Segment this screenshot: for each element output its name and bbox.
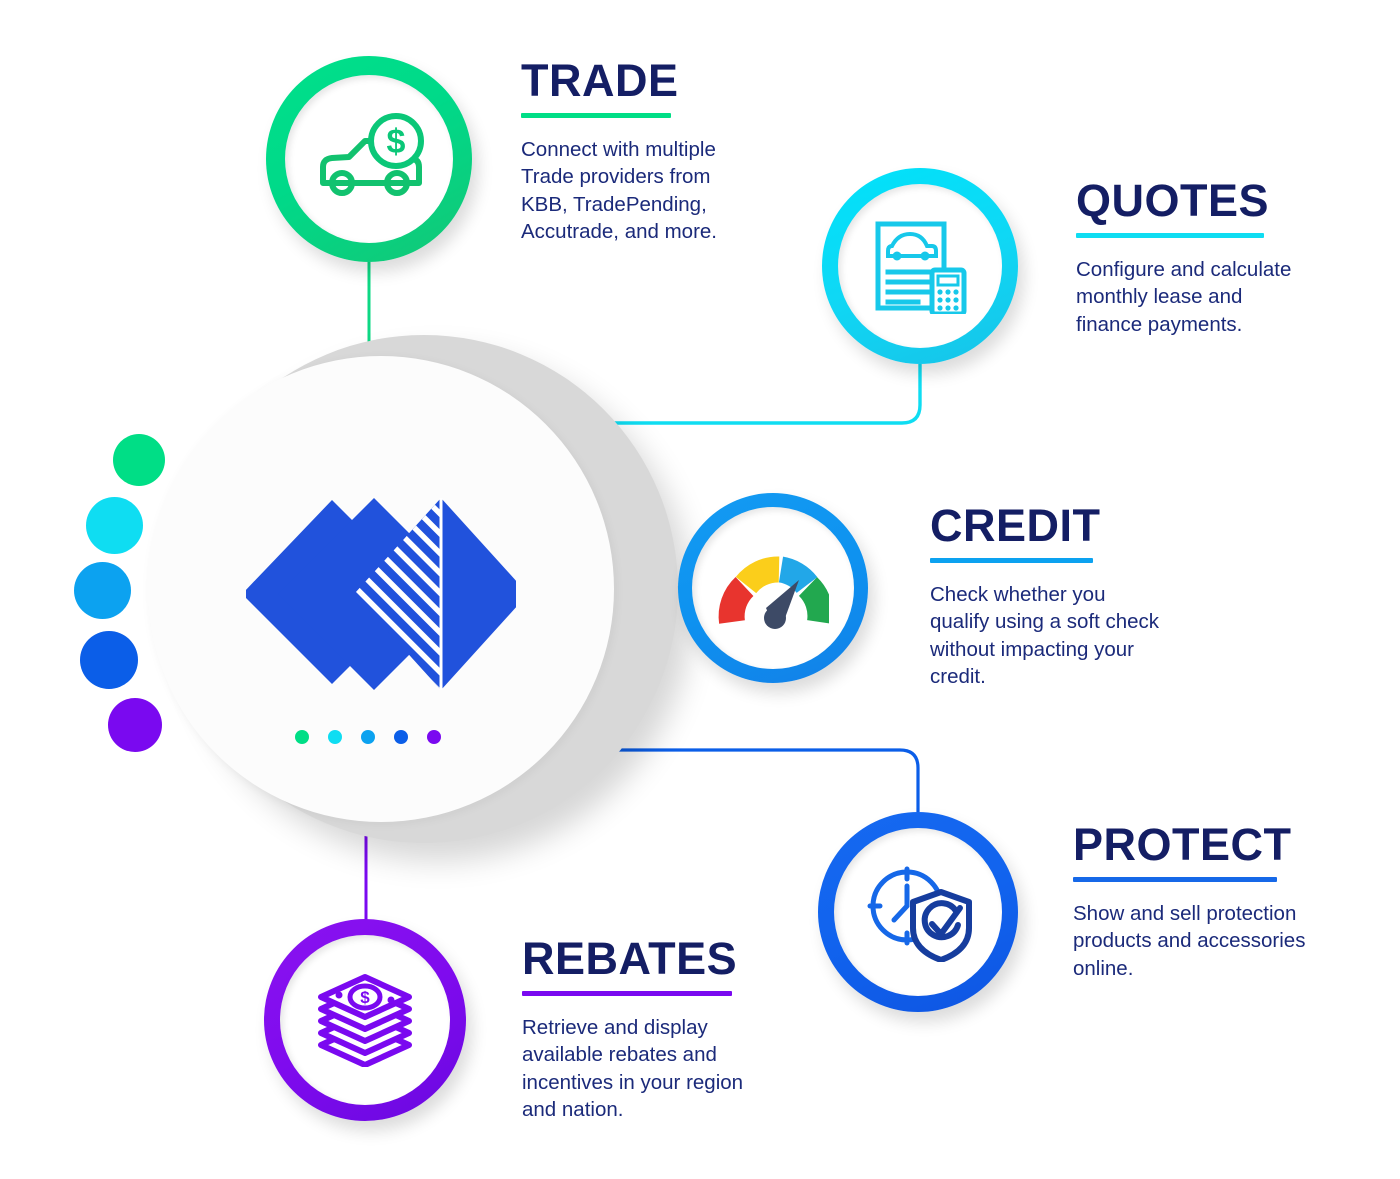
- node-rebates[interactable]: $: [264, 919, 466, 1121]
- credit-title: CREDIT: [930, 503, 1165, 548]
- protect-title: PROTECT: [1073, 822, 1313, 867]
- quotes-description: Configure and calculate monthly lease an…: [1076, 256, 1311, 338]
- central-hub: [96, 329, 640, 853]
- node-credit[interactable]: [678, 493, 868, 683]
- credit-description: Check whether you qualify using a soft c…: [930, 581, 1165, 690]
- protect-description: Show and sell protection products and ac…: [1073, 900, 1313, 982]
- quotes-title: QUOTES: [1076, 178, 1311, 223]
- credit-accent-rule: [930, 558, 1093, 563]
- rebates-title: REBATES: [522, 936, 757, 981]
- feature-text-rebates: REBATES Retrieve and display available r…: [522, 936, 757, 1123]
- hub-dot-cyan: [328, 730, 342, 744]
- trade-description: Connect with multiple Trade providers fr…: [521, 136, 761, 245]
- car-with-dollar-coin-icon: $: [266, 56, 472, 262]
- hub-dot-purple: [427, 730, 441, 744]
- hub-dot-blue: [394, 730, 408, 744]
- rebates-description: Retrieve and display available rebates a…: [522, 1014, 757, 1123]
- trade-title: TRADE: [521, 58, 761, 103]
- hub-dot-green: [295, 730, 309, 744]
- svg-text:$: $: [360, 988, 370, 1007]
- three-diamond-logo: [246, 494, 516, 694]
- node-protect[interactable]: [818, 812, 1018, 1012]
- money-stack-icon: $: [264, 919, 466, 1121]
- feature-text-trade: TRADE Connect with multiple Trade provid…: [521, 58, 761, 245]
- feature-text-quotes: QUOTES Configure and calculate monthly l…: [1076, 178, 1311, 338]
- svg-text:$: $: [387, 123, 406, 161]
- feature-text-credit: CREDIT Check whether you qualify using a…: [930, 503, 1165, 690]
- node-quotes[interactable]: [822, 168, 1018, 364]
- quotes-accent-rule: [1076, 233, 1264, 238]
- credit-score-gauge-icon: [678, 493, 868, 683]
- node-trade[interactable]: $: [266, 56, 472, 262]
- clock-shield-check-icon: [818, 812, 1018, 1012]
- protect-accent-rule: [1073, 877, 1277, 882]
- trade-accent-rule: [521, 113, 671, 118]
- feature-text-protect: PROTECT Show and sell protection product…: [1073, 822, 1313, 982]
- infographic-canvas: $: [0, 0, 1400, 1179]
- hub-dot-lblue: [361, 730, 375, 744]
- hub-color-dots: [295, 726, 465, 748]
- rebates-accent-rule: [522, 991, 732, 996]
- document-with-calculator-icon: [822, 168, 1018, 364]
